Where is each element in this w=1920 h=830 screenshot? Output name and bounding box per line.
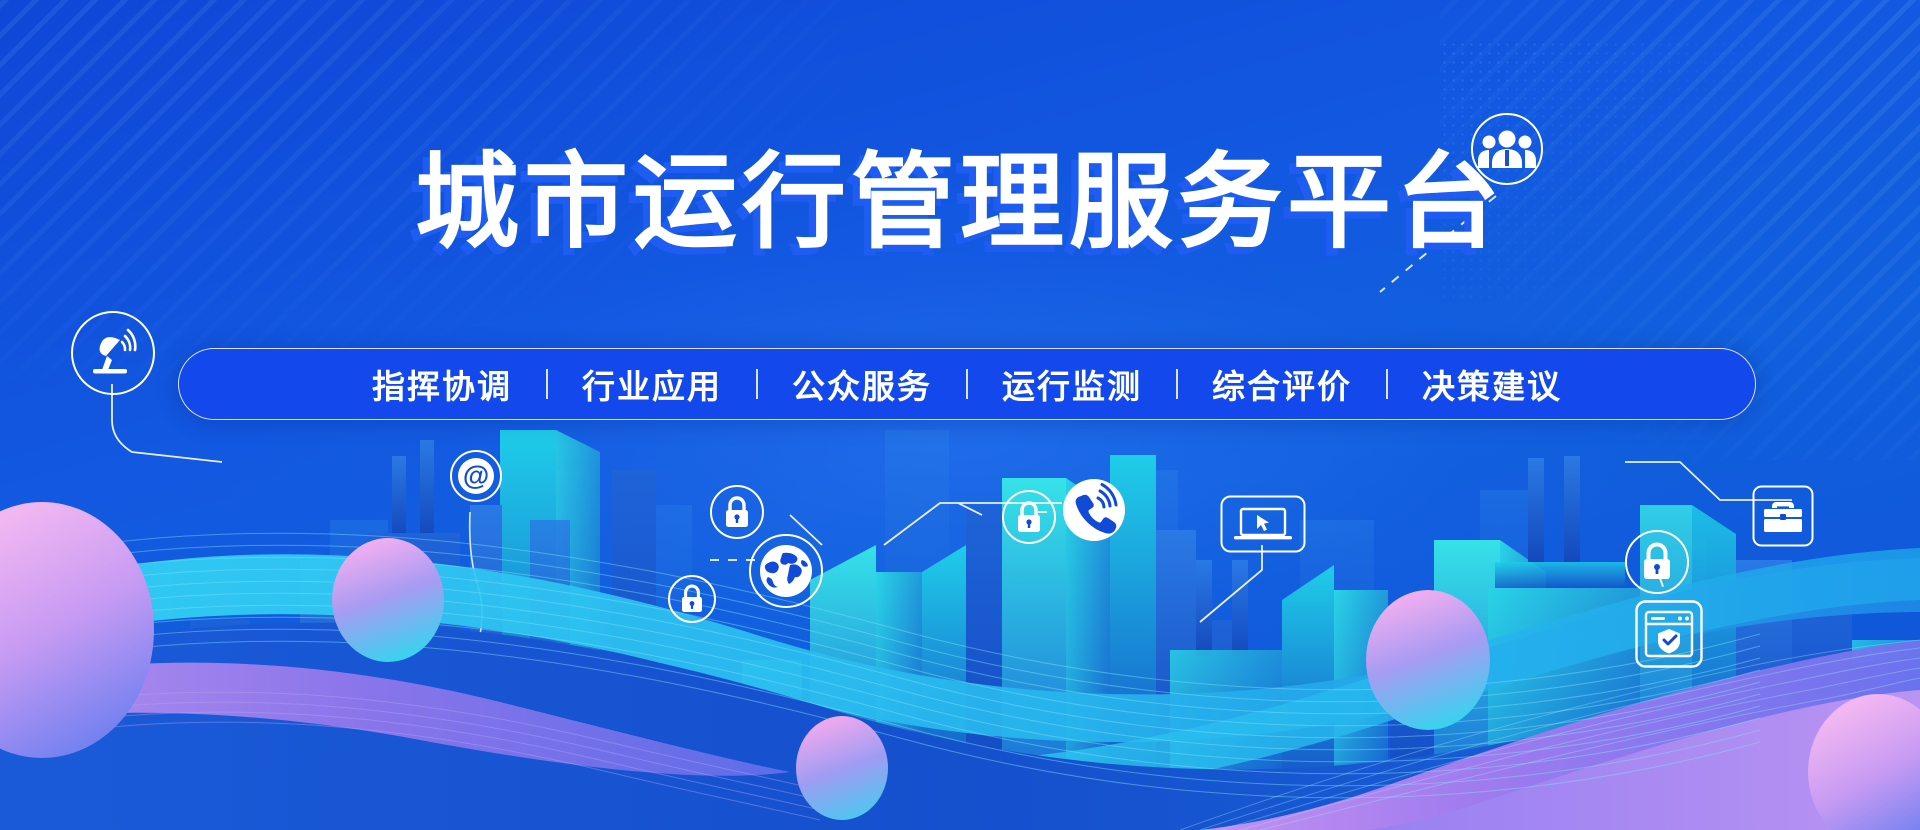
lock-icon-3[interactable]	[1002, 490, 1056, 544]
decorative-sphere-mid-left	[332, 538, 444, 662]
briefcase-icon[interactable]	[1752, 485, 1814, 547]
nav-item-4[interactable]: 综合评价	[1178, 360, 1386, 408]
nav-item-0[interactable]: 指挥协调	[338, 360, 546, 408]
phone-call-icon[interactable]	[1062, 478, 1126, 542]
at-email-icon[interactable]: @	[450, 450, 502, 502]
decorative-sphere-bottom	[796, 716, 888, 820]
decorative-sphere-right	[1366, 590, 1490, 730]
browser-shield-icon[interactable]	[1635, 600, 1703, 668]
globe-icon[interactable]	[748, 533, 824, 609]
satellite-dish-icon[interactable]	[70, 310, 156, 396]
laptop-screen-icon[interactable]	[1220, 495, 1306, 553]
city-platform-banner: @	[0, 0, 1920, 830]
nav-item-2[interactable]: 公众服务	[758, 360, 966, 408]
page-title: 城市运行管理服务平台	[0, 148, 1920, 258]
lock-icon-2[interactable]	[668, 575, 716, 623]
nav-item-1[interactable]: 行业应用	[548, 360, 756, 408]
nav-item-3[interactable]: 运行监测	[968, 360, 1176, 408]
lock-icon-4[interactable]	[1625, 530, 1689, 594]
lock-icon-1[interactable]	[710, 485, 764, 539]
svg-text:@: @	[463, 461, 489, 491]
nav-item-5[interactable]: 决策建议	[1388, 360, 1596, 408]
main-nav: 指挥协调 行业应用 公众服务 运行监测 综合评价 决策建议	[178, 348, 1756, 420]
